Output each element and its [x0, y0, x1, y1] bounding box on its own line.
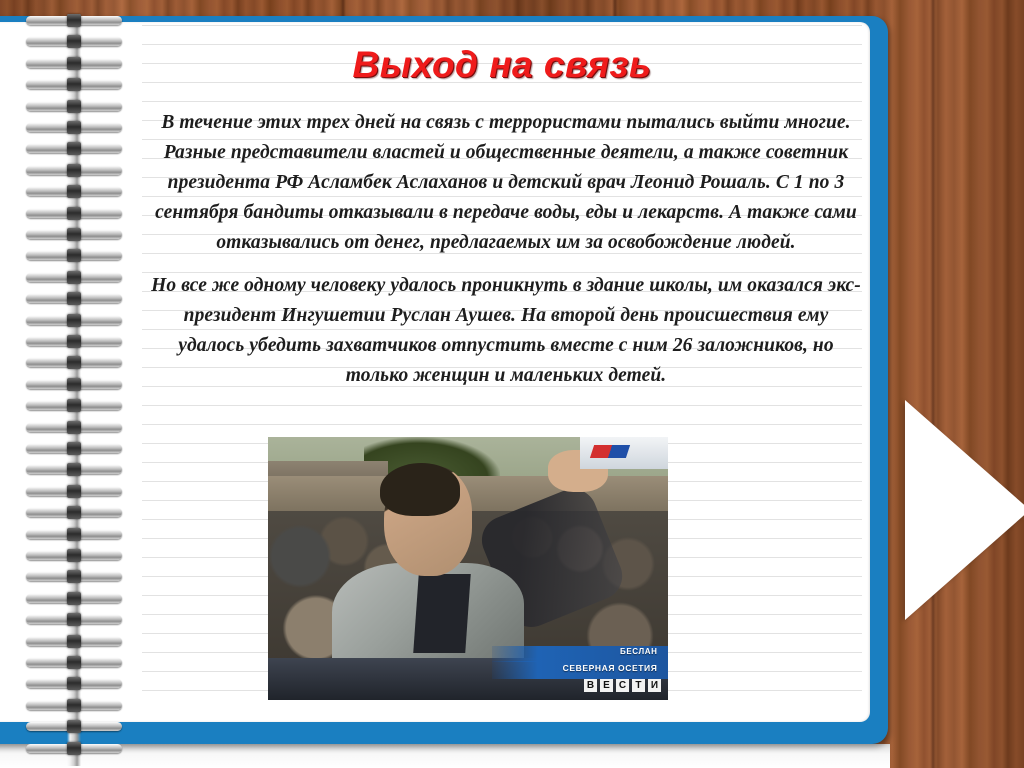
paragraph-1: В течение этих трех дней на связь с терр…	[150, 108, 862, 258]
spiral-ring-knot	[67, 185, 81, 198]
spiral-ring	[26, 142, 122, 155]
spiral-ring	[26, 399, 122, 412]
spiral-ring	[26, 742, 122, 755]
spiral-ring-knot	[67, 249, 81, 262]
channel-letter: Е	[600, 679, 613, 692]
spiral-ring	[26, 121, 122, 134]
spiral-ring-knot	[67, 378, 81, 391]
spiral-ring	[26, 656, 122, 669]
spiral-ring	[26, 185, 122, 198]
spiral-ring	[26, 35, 122, 48]
photo-channel-logo-mark	[590, 445, 630, 458]
spiral-ring-knot	[67, 699, 81, 712]
spiral-ring	[26, 421, 122, 434]
spiral-ring	[26, 356, 122, 369]
spiral-ring-knot	[67, 271, 81, 284]
photo-man-shirt	[413, 574, 471, 653]
spiral-ring	[26, 463, 122, 476]
spiral-ring-knot	[67, 421, 81, 434]
spiral-ring-knot	[67, 78, 81, 91]
paragraph-2: Но все же одному человеку удалось проник…	[150, 271, 862, 391]
channel-letter: В	[584, 679, 597, 692]
spiral-ring	[26, 635, 122, 648]
channel-letter: С	[616, 679, 629, 692]
news-banner: БЕСЛАН СЕВЕРНАЯ ОСЕТИЯ В Е С Т И	[492, 645, 668, 700]
spiral-ring	[26, 164, 122, 177]
spiral-ring	[26, 100, 122, 113]
news-banner-city: БЕСЛАН	[620, 647, 657, 656]
spiral-ring-knot	[67, 656, 81, 669]
spiral-ring	[26, 592, 122, 605]
spiral-ring	[26, 57, 122, 70]
spiral-ring-knot	[67, 506, 81, 519]
spiral-ring-knot	[67, 613, 81, 626]
spiral-ring-knot	[67, 442, 81, 455]
spiral-ring-knot	[67, 292, 81, 305]
spiral-ring	[26, 335, 122, 348]
spiral-ring-knot	[67, 570, 81, 583]
spiral-ring	[26, 249, 122, 262]
spiral-ring-knot	[67, 356, 81, 369]
spiral-ring	[26, 506, 122, 519]
spiral-ring	[26, 528, 122, 541]
spiral-ring	[26, 207, 122, 220]
spiral-ring-knot	[67, 57, 81, 70]
spiral-binding	[26, 14, 122, 766]
spiral-ring	[26, 549, 122, 562]
spiral-ring	[26, 570, 122, 583]
spiral-ring-knot	[67, 121, 81, 134]
spiral-ring-knot	[67, 207, 81, 220]
spiral-ring-knot	[67, 549, 81, 562]
spiral-ring-knot	[67, 100, 81, 113]
corner-triangle-decoration	[905, 400, 1024, 620]
spiral-ring	[26, 613, 122, 626]
spiral-ring-knot	[67, 335, 81, 348]
page-title: Выход на связь	[142, 42, 862, 88]
news-channel-name: В Е С Т И	[584, 679, 661, 692]
bottom-white-strip	[0, 744, 890, 768]
spiral-ring	[26, 378, 122, 391]
spiral-ring	[26, 485, 122, 498]
spiral-ring	[26, 677, 122, 690]
spiral-ring-knot	[67, 720, 81, 733]
spiral-ring-knot	[67, 463, 81, 476]
news-banner-region: СЕВЕРНАЯ ОСЕТИЯ	[563, 663, 658, 673]
spiral-ring-knot	[67, 164, 81, 177]
spiral-ring-knot	[67, 314, 81, 327]
spiral-ring	[26, 442, 122, 455]
spiral-ring-knot	[67, 35, 81, 48]
photo-man-hair	[380, 463, 460, 516]
spiral-ring	[26, 14, 122, 27]
spiral-ring	[26, 314, 122, 327]
spiral-ring-knot	[67, 742, 81, 755]
channel-letter: Т	[632, 679, 645, 692]
spiral-ring	[26, 292, 122, 305]
spiral-ring	[26, 271, 122, 284]
spiral-ring-knot	[67, 528, 81, 541]
spiral-ring-knot	[67, 142, 81, 155]
spiral-ring-knot	[67, 592, 81, 605]
spiral-ring-knot	[67, 677, 81, 690]
spiral-ring	[26, 228, 122, 241]
spiral-ring-knot	[67, 485, 81, 498]
body-text-container: В течение этих трех дней на связь с терр…	[150, 108, 862, 404]
spiral-ring-knot	[67, 399, 81, 412]
spiral-ring	[26, 699, 122, 712]
spiral-ring	[26, 720, 122, 733]
spiral-ring-knot	[67, 635, 81, 648]
spiral-ring	[26, 78, 122, 91]
wood-seam	[930, 0, 936, 768]
spiral-ring-knot	[67, 14, 81, 27]
news-photo-content: БЕСЛАН СЕВЕРНАЯ ОСЕТИЯ В Е С Т И	[268, 437, 668, 700]
news-photo: БЕСЛАН СЕВЕРНАЯ ОСЕТИЯ В Е С Т И	[268, 437, 668, 700]
channel-letter: И	[648, 679, 661, 692]
spiral-ring-knot	[67, 228, 81, 241]
